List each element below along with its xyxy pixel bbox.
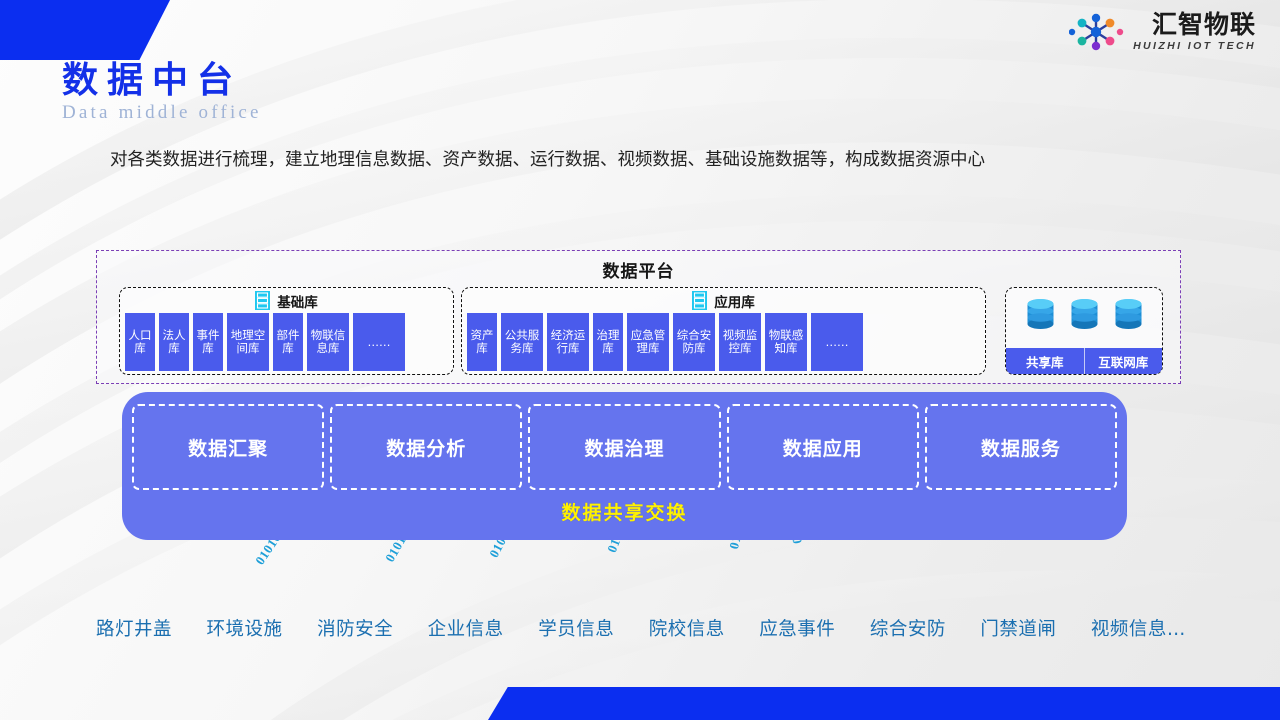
capability-box[interactable]: 数据分析 — [330, 404, 522, 490]
library-cell[interactable]: 人口库 — [125, 313, 155, 371]
library-application-label: 应用库 — [714, 291, 755, 311]
data-source-tag[interactable]: 学员信息 — [538, 615, 614, 641]
data-platform-panel: 数据平台 基础库 人口库法人库事件库地理空间库部件库物联信息库…… 应用库 资产… — [96, 250, 1181, 384]
capability-box[interactable]: 数据治理 — [528, 404, 720, 490]
capability-box[interactable]: 数据服务 — [925, 404, 1117, 490]
database-cylinder-icon — [1025, 298, 1056, 330]
library-basic-header: 基础库 — [120, 290, 453, 311]
database-label-shared[interactable]: 共享库 — [1006, 348, 1084, 374]
data-platform-title: 数据平台 — [97, 257, 1180, 282]
database-label-row: 共享库 互联网库 — [1006, 348, 1162, 374]
database-label-internet[interactable]: 互联网库 — [1084, 348, 1163, 374]
capability-box[interactable]: 数据汇聚 — [132, 404, 324, 490]
library-cell[interactable]: 物联感知库 — [765, 313, 807, 371]
library-cell[interactable]: 物联信息库 — [307, 313, 349, 371]
page-title: 数据中台 — [62, 62, 262, 100]
data-source-tag[interactable]: 企业信息 — [428, 615, 504, 641]
data-source-tag[interactable]: 综合安防 — [870, 615, 946, 641]
data-source-tag[interactable]: 门禁道闸 — [980, 615, 1056, 641]
library-cell[interactable]: 事件库 — [193, 313, 223, 371]
page-subtitle: Data middle office — [62, 102, 262, 124]
server-rack-icon — [692, 291, 707, 310]
data-source-tag[interactable]: 院校信息 — [649, 615, 725, 641]
library-group-application: 应用库 资产库公共服务库经济运行库治理库应急管理库综合安防库视频监控库物联感知库… — [461, 287, 986, 375]
library-cell[interactable]: 应急管理库 — [627, 313, 669, 371]
library-basic-label: 基础库 — [277, 291, 318, 311]
library-cell[interactable]: 法人库 — [159, 313, 189, 371]
library-cell[interactable]: 公共服务库 — [501, 313, 543, 371]
library-basic-cells: 人口库法人库事件库地理空间库部件库物联信息库…… — [120, 313, 453, 371]
data-source-tag[interactable]: 路灯井盖 — [96, 615, 172, 641]
server-rack-icon — [255, 291, 270, 310]
library-application-cells: 资产库公共服务库经济运行库治理库应急管理库综合安防库视频监控库物联感知库…… — [462, 313, 985, 371]
database-cylinders — [1006, 288, 1162, 340]
library-cell[interactable]: 治理库 — [593, 313, 623, 371]
capability-box[interactable]: 数据应用 — [727, 404, 919, 490]
library-cell[interactable]: 视频监控库 — [719, 313, 761, 371]
library-cell[interactable]: …… — [811, 313, 863, 371]
library-cell[interactable]: 部件库 — [273, 313, 303, 371]
library-group-basic: 基础库 人口库法人库事件库地理空间库部件库物联信息库…… — [119, 287, 454, 375]
library-cell[interactable]: 经济运行库 — [547, 313, 589, 371]
database-cylinder-icon — [1113, 298, 1144, 330]
corner-accent-bottom-right — [488, 687, 1280, 720]
data-source-tag[interactable]: 环境设施 — [207, 615, 283, 641]
capabilities-panel: 数据汇聚数据分析数据治理数据应用数据服务 数据共享交换 — [122, 392, 1127, 540]
library-cell[interactable]: 资产库 — [467, 313, 497, 371]
molecule-network-icon — [1069, 12, 1125, 52]
page-heading: 数据中台 Data middle office — [62, 62, 262, 124]
data-source-tag[interactable]: 应急事件 — [759, 615, 835, 641]
library-application-header: 应用库 — [462, 290, 985, 311]
brand-name-cn: 汇智物联 — [1152, 12, 1256, 37]
database-box: 共享库 互联网库 — [1005, 287, 1163, 375]
capability-box-row: 数据汇聚数据分析数据治理数据应用数据服务 — [122, 392, 1127, 490]
database-cylinder-icon — [1069, 298, 1100, 330]
description-paragraph: 对各类数据进行梳理，建立地理信息数据、资产数据、运行数据、视频数据、基础设施数据… — [110, 139, 1180, 182]
brand-logo: 汇智物联 HUIZHI IOT TECH — [1069, 12, 1256, 52]
bottom-tag-list: 路灯井盖环境设施消防安全企业信息学员信息院校信息应急事件综合安防门禁道闸视频信息… — [96, 615, 1186, 641]
brand-name-en: HUIZHI IOT TECH — [1133, 41, 1256, 52]
library-cell[interactable]: 综合安防库 — [673, 313, 715, 371]
library-cell[interactable]: …… — [353, 313, 405, 371]
data-sharing-exchange-label: 数据共享交换 — [122, 498, 1127, 525]
data-source-tag[interactable]: 消防安全 — [317, 615, 393, 641]
data-source-tag[interactable]: 视频信息… — [1091, 615, 1186, 641]
library-cell[interactable]: 地理空间库 — [227, 313, 269, 371]
